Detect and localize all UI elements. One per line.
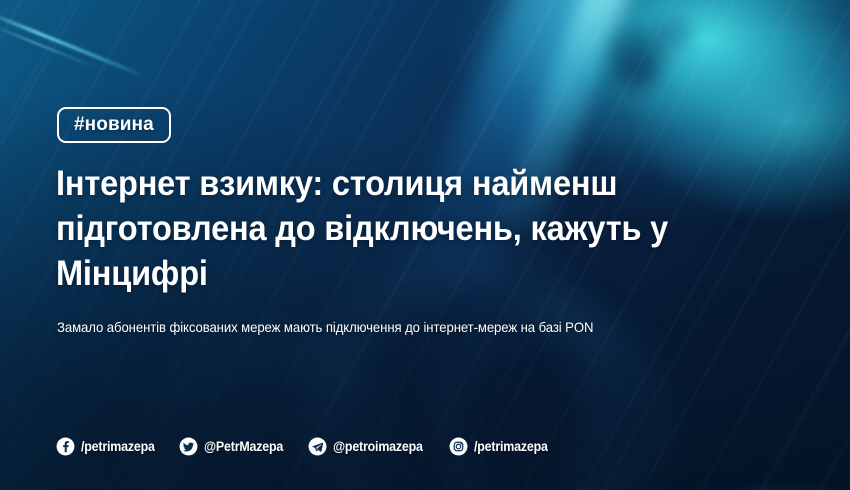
instagram-icon bbox=[449, 437, 468, 456]
page-title: Інтернет взимку: столиця найменш підгото… bbox=[56, 162, 748, 296]
social-link-instagram[interactable]: /petrimazepa bbox=[449, 437, 554, 456]
hashtag-badge[interactable]: #новина bbox=[57, 107, 171, 143]
social-handle-telegram: @petroimazepa bbox=[333, 440, 423, 454]
news-card: #новина Інтернет взимку: столиця найменш… bbox=[0, 0, 850, 490]
social-link-telegram[interactable]: @petroimazepa bbox=[308, 437, 431, 456]
subtitle: Замало абонентів фіксованих мереж мають … bbox=[57, 318, 771, 337]
social-handle-instagram: /petrimazepa bbox=[474, 440, 548, 454]
facebook-icon bbox=[56, 437, 75, 456]
telegram-icon bbox=[308, 437, 327, 456]
social-link-facebook[interactable]: /petrimazepa bbox=[56, 437, 161, 456]
social-handle-twitter: @PetrMazepa bbox=[204, 440, 283, 454]
social-links: /petrimazepa @PetrMazepa bbox=[56, 437, 554, 456]
card-content: #новина Інтернет взимку: столиця найменш… bbox=[0, 0, 850, 490]
social-handle-facebook: /petrimazepa bbox=[81, 440, 155, 454]
twitter-icon bbox=[179, 437, 198, 456]
social-link-twitter[interactable]: @PetrMazepa bbox=[179, 437, 290, 456]
